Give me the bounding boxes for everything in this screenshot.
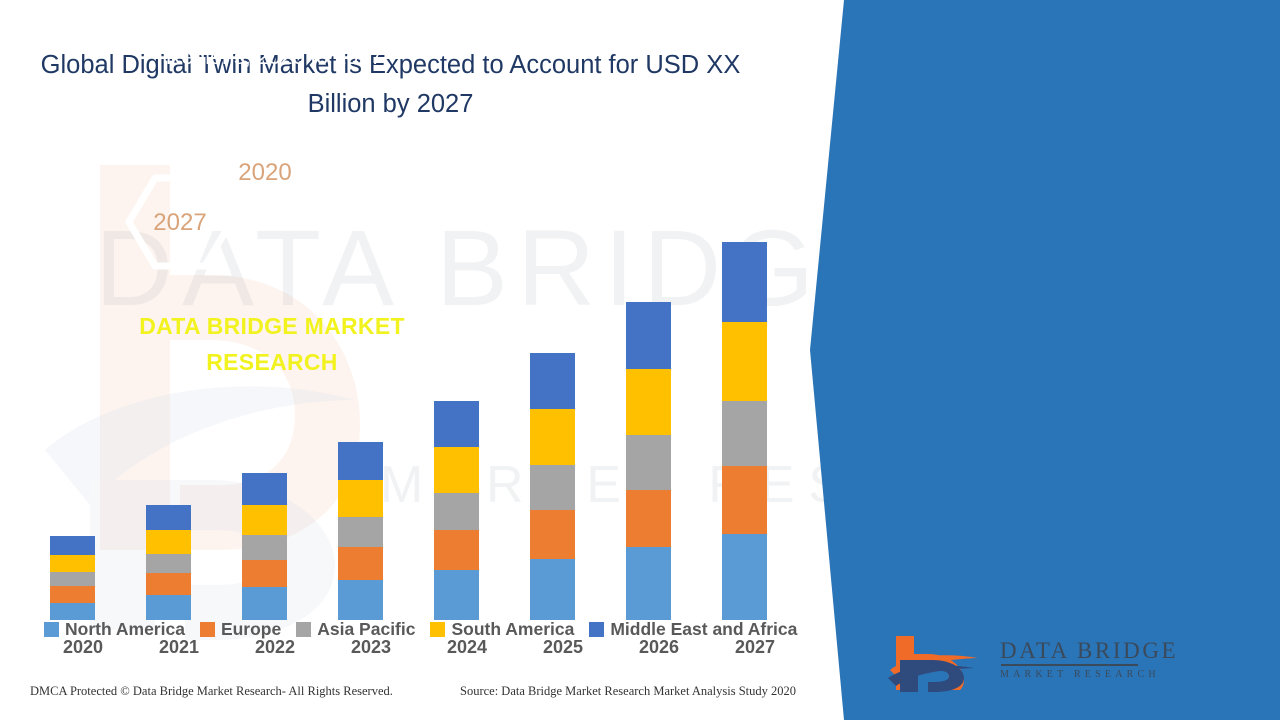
brand-line-2: RESEARCH (92, 344, 452, 380)
bar-segment-south-america (626, 369, 671, 435)
legend-swatch-icon (44, 622, 59, 637)
x-axis-tick-2022: 2022 (240, 637, 310, 658)
logo-line-2: MARKET RESEARCH (1000, 669, 1220, 680)
bar-segment-asia-pacific (146, 554, 191, 574)
chart-infographic: DATA BRIDGE MARKET RESEARCH Global Digit… (0, 0, 1280, 720)
logo-divider (1001, 664, 1138, 666)
bar-segment-north-america (530, 559, 575, 620)
side-panel-title: Global Digital Twin Market, By Regions, … (96, 8, 452, 74)
bar-segment-europe (722, 466, 767, 534)
bar-2024 (434, 401, 479, 620)
bar-segment-europe (242, 560, 287, 587)
logo-line-1: DATA BRIDGE (1000, 638, 1220, 663)
bar-segment-asia-pacific (434, 493, 479, 530)
bar-segment-asia-pacific (722, 401, 767, 466)
bar-segment-south-america (242, 505, 287, 535)
bar-2021 (146, 505, 191, 620)
bar-segment-middle-east-and-africa (242, 473, 287, 505)
bar-segment-middle-east-and-africa (146, 505, 191, 530)
bar-segment-north-america (626, 547, 671, 620)
bar-2027 (722, 242, 767, 620)
bar-segment-middle-east-and-africa (530, 353, 575, 409)
bar-segment-south-america (434, 447, 479, 493)
footer-copyright: DMCA Protected © Data Bridge Market Rese… (30, 684, 393, 699)
bar-2023 (338, 442, 383, 620)
chart-x-axis: 20202021202220232024202520262027 (30, 637, 830, 663)
bar-segment-europe (338, 547, 383, 580)
footer-source: Source: Data Bridge Market Research Mark… (460, 684, 796, 699)
x-axis-tick-2021: 2021 (144, 637, 214, 658)
bar-2020 (50, 536, 95, 620)
legend-swatch-icon (430, 622, 445, 637)
bar-segment-middle-east-and-africa (434, 401, 479, 448)
bar-segment-asia-pacific (338, 517, 383, 547)
brand-name: DATA BRIDGE MARKET RESEARCH (92, 308, 452, 380)
company-logo-text: DATA BRIDGE MARKET RESEARCH (1000, 638, 1220, 680)
bar-segment-north-america (338, 580, 383, 620)
bar-2025 (530, 353, 575, 620)
legend-swatch-icon (296, 622, 311, 637)
hexagon-label-2027: 2027 (150, 209, 210, 237)
bar-segment-europe (530, 510, 575, 559)
bar-segment-south-america (722, 322, 767, 400)
legend-swatch-icon (200, 622, 215, 637)
bar-segment-europe (626, 490, 671, 548)
bar-segment-europe (50, 586, 95, 602)
bar-segment-middle-east-and-africa (338, 442, 383, 480)
bar-segment-north-america (722, 534, 767, 620)
bar-segment-south-america (50, 555, 95, 572)
legend-swatch-icon (589, 622, 604, 637)
x-axis-tick-2027: 2027 (720, 637, 790, 658)
x-axis-tick-2024: 2024 (432, 637, 502, 658)
bar-segment-middle-east-and-africa (626, 302, 671, 369)
bar-segment-europe (146, 573, 191, 595)
bar-segment-middle-east-and-africa (722, 242, 767, 322)
bar-segment-north-america (434, 570, 479, 620)
bar-segment-south-america (338, 480, 383, 517)
bar-segment-asia-pacific (50, 572, 95, 586)
bar-segment-middle-east-and-africa (50, 536, 95, 554)
x-axis-tick-2023: 2023 (336, 637, 406, 658)
bar-2022 (242, 473, 287, 620)
hexagon-label-2020: 2020 (235, 159, 295, 187)
bar-segment-asia-pacific (626, 435, 671, 489)
x-axis-tick-2025: 2025 (528, 637, 598, 658)
bar-segment-asia-pacific (242, 535, 287, 560)
side-panel (810, 0, 1280, 720)
x-axis-tick-2020: 2020 (48, 637, 118, 658)
bar-segment-north-america (242, 587, 287, 620)
bar-segment-south-america (530, 409, 575, 464)
brand-line-1: DATA BRIDGE MARKET (92, 308, 452, 344)
hexagon-group: 2020 2027 (120, 120, 350, 295)
bar-2026 (626, 302, 671, 620)
x-axis-tick-2026: 2026 (624, 637, 694, 658)
bar-segment-asia-pacific (530, 465, 575, 511)
bar-segment-europe (434, 530, 479, 570)
bar-segment-south-america (146, 530, 191, 554)
